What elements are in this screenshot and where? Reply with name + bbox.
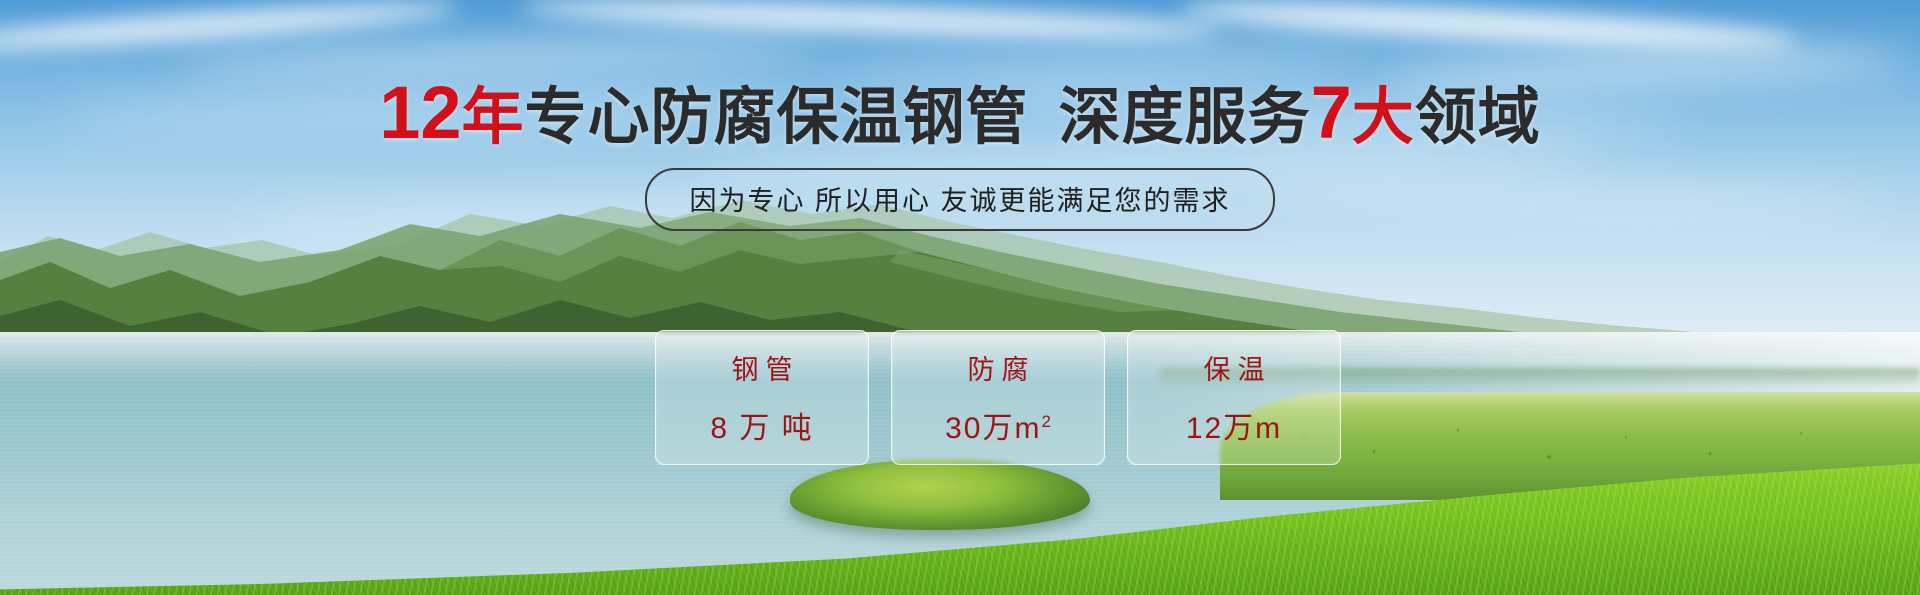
stat-card-value: 12万m bbox=[1186, 403, 1282, 447]
stat-card-value: 8 万 吨 bbox=[710, 403, 813, 447]
stat-value-main: 8 万 吨 bbox=[710, 412, 813, 445]
banner-content: 12年专心防腐保温钢管深度服务7大领域 因为专心 所以用心 友诚更能满足您的需求… bbox=[0, 0, 1920, 595]
stat-card-label: 钢管 bbox=[725, 348, 800, 387]
headline-main-text: 专心防腐保温钢管 bbox=[525, 83, 1029, 152]
stat-value-main: 30万m bbox=[945, 412, 1041, 445]
subtitle-container: 因为专心 所以用心 友诚更能满足您的需求 bbox=[0, 168, 1920, 231]
subtitle-pill: 因为专心 所以用心 友诚更能满足您的需求 bbox=[645, 168, 1274, 231]
stat-cards: 钢管 8 万 吨 防腐 30万m2 保温 12万m bbox=[655, 330, 1341, 465]
stat-card-label: 保温 bbox=[1197, 348, 1272, 387]
stat-card-steel-pipe: 钢管 8 万 吨 bbox=[655, 330, 869, 465]
stat-value-superscript: 2 bbox=[1041, 412, 1050, 431]
stat-card-insulation: 保温 12万m bbox=[1127, 330, 1341, 465]
stat-card-value: 30万m2 bbox=[945, 403, 1051, 447]
stat-card-anticorrosion: 防腐 30万m2 bbox=[891, 330, 1105, 465]
headline-service-text: 深度服务 bbox=[1059, 83, 1311, 152]
headline-years-number: 12 bbox=[379, 71, 461, 154]
headline: 12年专心防腐保温钢管深度服务7大领域 bbox=[0, 76, 1920, 150]
stat-value-main: 12万m bbox=[1186, 412, 1282, 445]
headline-fields-number: 7 bbox=[1311, 71, 1352, 154]
headline-fields-text: 领域 bbox=[1415, 83, 1541, 152]
stat-card-label: 防腐 bbox=[961, 348, 1036, 387]
promo-banner: 12年专心防腐保温钢管深度服务7大领域 因为专心 所以用心 友诚更能满足您的需求… bbox=[0, 0, 1920, 595]
headline-years-unit: 年 bbox=[462, 83, 525, 152]
headline-fields-unit: 大 bbox=[1352, 83, 1415, 152]
